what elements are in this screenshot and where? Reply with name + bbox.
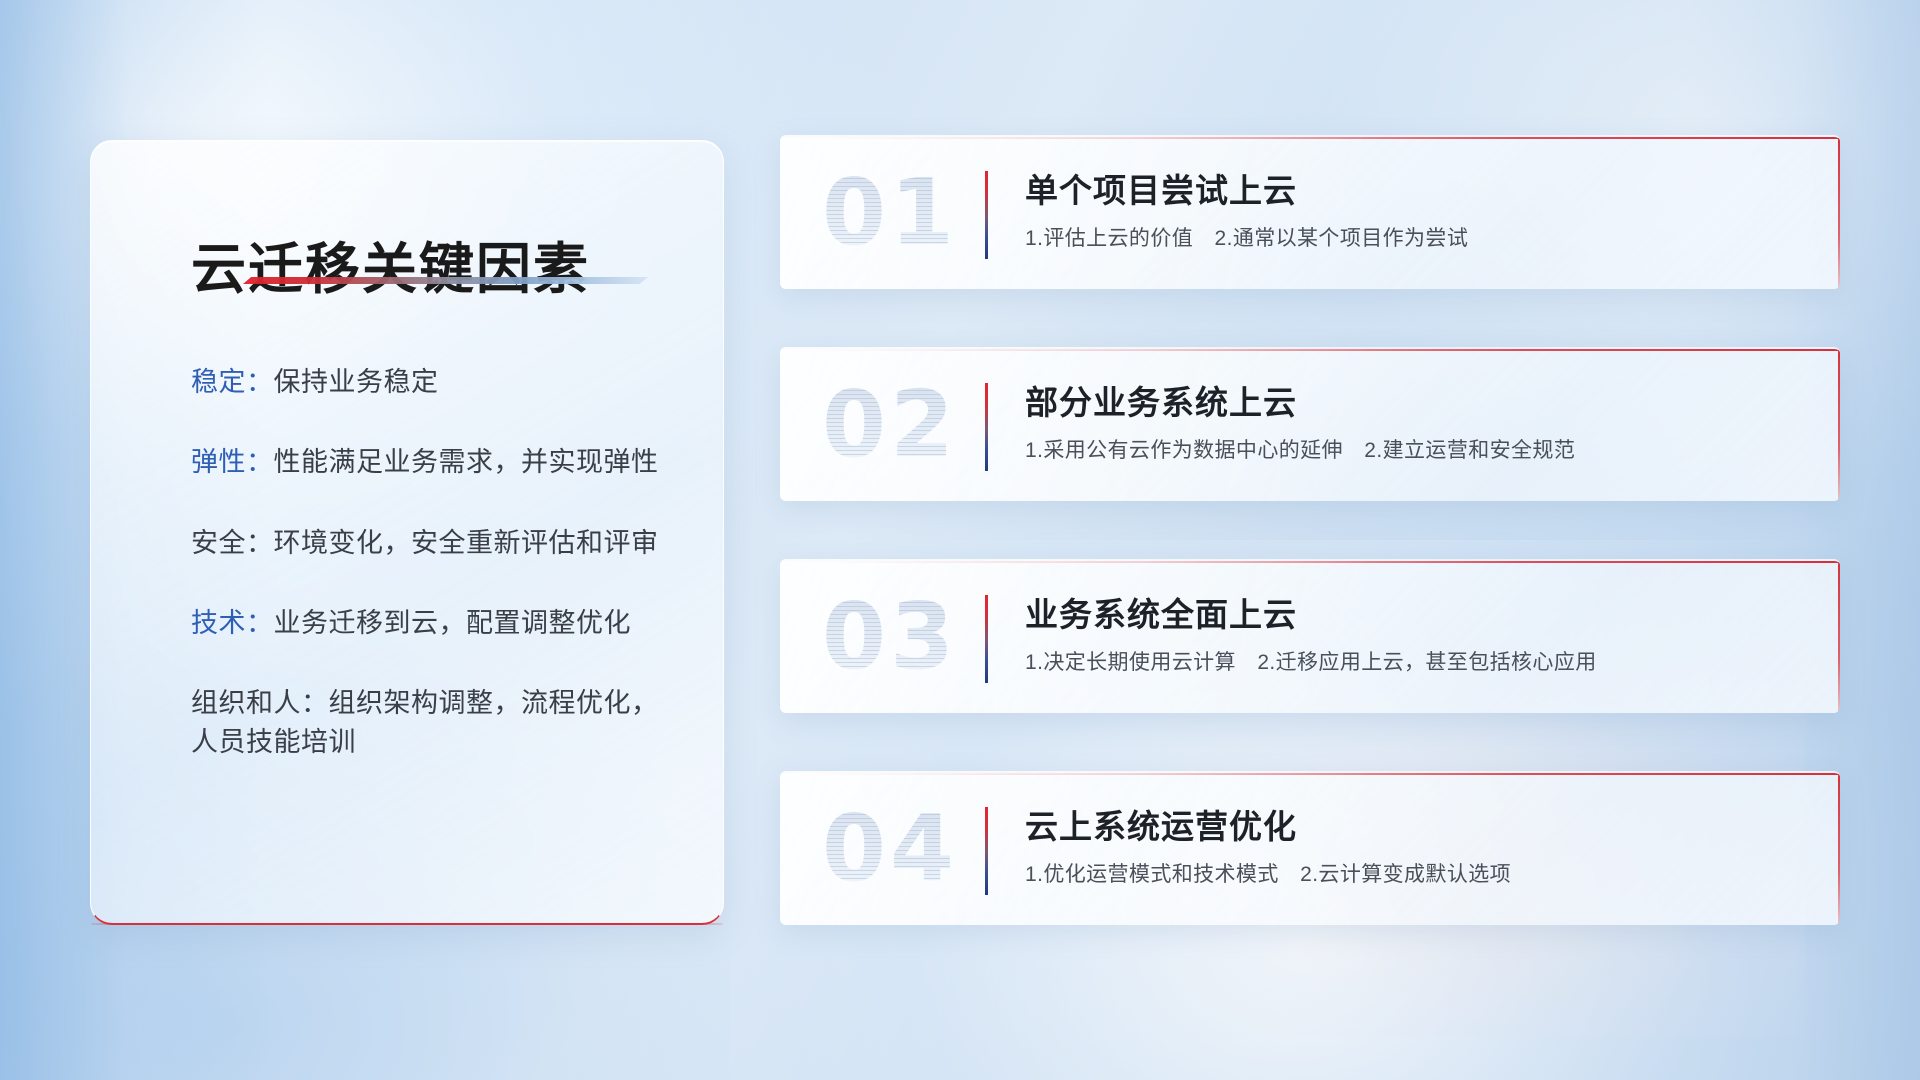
card-description: 1.评估上云的价值 2.通常以某个项目作为尝试 (1025, 225, 1800, 252)
card-top-accent (780, 349, 1840, 351)
card-body: 业务系统全面上云1.决定长期使用云计算 2.迁移应用上云，甚至包括核心应用 (1025, 595, 1800, 676)
card-divider (985, 383, 988, 471)
card-body: 云上系统运营优化1.优化运营模式和技术模式 2.云计算变成默认选项 (1025, 807, 1800, 888)
list-item-label: 稳定： (191, 367, 274, 397)
list-item-text: 业务迁移到云，配置调整优化 (274, 608, 632, 638)
page-title: 云迁移关键因素 (191, 224, 590, 304)
stage-card[interactable]: 04云上系统运营优化1.优化运营模式和技术模式 2.云计算变成默认选项 (780, 771, 1840, 925)
list-item-label: 安全： (191, 528, 274, 558)
card-title: 部分业务系统上云 (1025, 383, 1800, 423)
stage-number-watermark: 01 (822, 167, 958, 259)
card-body: 单个项目尝试上云1.评估上云的价值 2.通常以某个项目作为尝试 (1025, 171, 1800, 252)
card-divider (985, 595, 988, 683)
card-right-accent (1838, 137, 1840, 289)
card-top-accent (780, 773, 1840, 775)
list-item-text: 保持业务稳定 (274, 367, 439, 397)
stage-number-watermark: 04 (822, 803, 958, 895)
list-item: 稳定：保持业务稳定 (191, 363, 661, 401)
stage-card[interactable]: 03业务系统全面上云1.决定长期使用云计算 2.迁移应用上云，甚至包括核心应用 (780, 559, 1840, 713)
list-item-text: 性能满足业务需求，并实现弹性 (274, 447, 659, 477)
card-right-accent (1838, 773, 1840, 925)
list-item-label: 组织和人： (191, 688, 329, 718)
stage-card[interactable]: 01单个项目尝试上云1.评估上云的价值 2.通常以某个项目作为尝试 (780, 135, 1840, 289)
key-factors-panel: 云迁移关键因素 稳定：保持业务稳定弹性：性能满足业务需求，并实现弹性安全：环境变… (90, 140, 724, 925)
list-item: 弹性：性能满足业务需求，并实现弹性 (191, 443, 661, 481)
list-item: 技术：业务迁移到云，配置调整优化 (191, 604, 661, 642)
stage-number-watermark: 02 (822, 379, 958, 471)
card-description: 1.采用公有云作为数据中心的延伸 2.建立运营和安全规范 (1025, 437, 1800, 464)
card-description: 1.优化运营模式和技术模式 2.云计算变成默认选项 (1025, 861, 1800, 888)
card-description: 1.决定长期使用云计算 2.迁移应用上云，甚至包括核心应用 (1025, 649, 1800, 676)
card-title: 云上系统运营优化 (1025, 807, 1800, 847)
card-right-accent (1838, 561, 1840, 713)
card-top-accent (780, 561, 1840, 563)
card-right-accent (1838, 349, 1840, 501)
card-divider (985, 807, 988, 895)
key-factors-list: 稳定：保持业务稳定弹性：性能满足业务需求，并实现弹性安全：环境变化，安全重新评估… (191, 363, 661, 761)
stages-card-list: 01单个项目尝试上云1.评估上云的价值 2.通常以某个项目作为尝试02部分业务系… (780, 135, 1840, 925)
list-item-label: 弹性： (191, 447, 274, 477)
stage-card[interactable]: 02部分业务系统上云1.采用公有云作为数据中心的延伸 2.建立运营和安全规范 (780, 347, 1840, 501)
list-item-label: 技术： (191, 608, 274, 638)
title-underline-gradient (243, 277, 648, 284)
list-item: 安全：环境变化，安全重新评估和评审 (191, 524, 661, 562)
stage-number-watermark: 03 (822, 591, 958, 683)
card-top-accent (780, 137, 1840, 139)
card-divider (985, 171, 988, 259)
card-title: 业务系统全面上云 (1025, 595, 1800, 635)
list-item: 组织和人：组织架构调整，流程优化，人员技能培训 (191, 684, 661, 761)
card-title: 单个项目尝试上云 (1025, 171, 1800, 211)
list-item-text: 环境变化，安全重新评估和评审 (274, 528, 659, 558)
card-body: 部分业务系统上云1.采用公有云作为数据中心的延伸 2.建立运营和安全规范 (1025, 383, 1800, 464)
